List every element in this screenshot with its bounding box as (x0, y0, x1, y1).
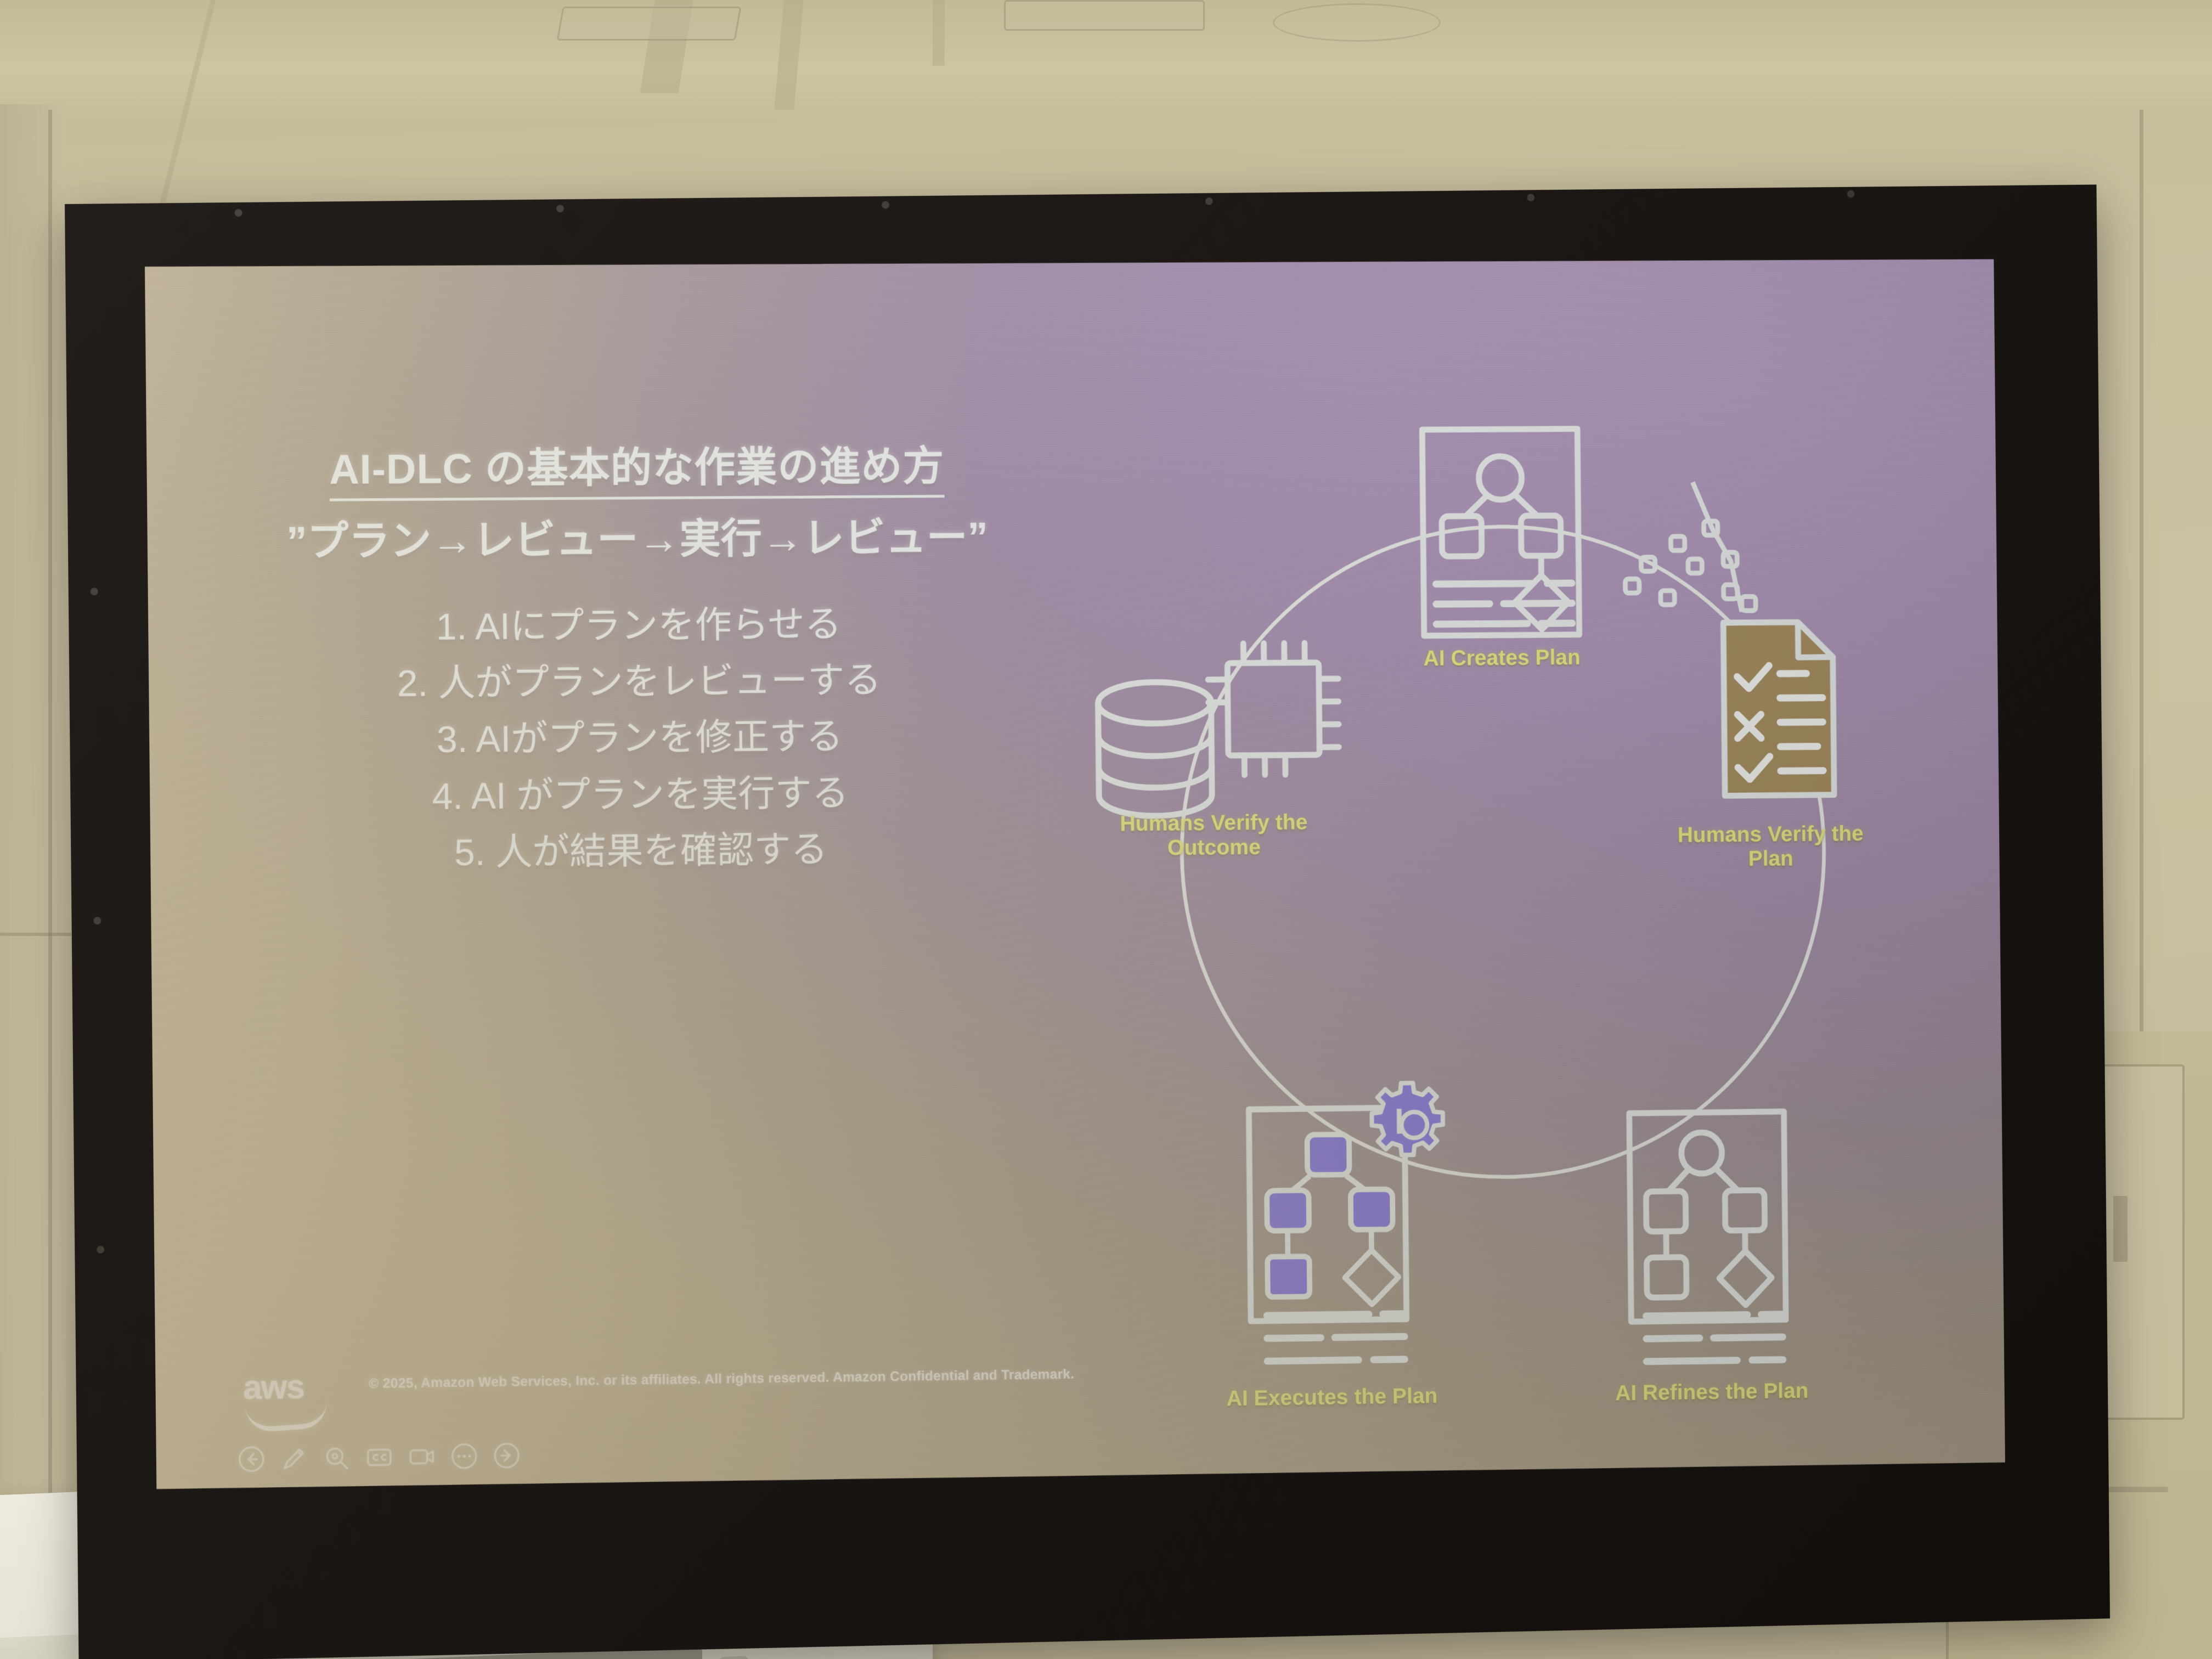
pen-icon[interactable] (280, 1444, 308, 1473)
slide-footer: aws © 2025, Amazon Web Services, Inc. or… (155, 1322, 2005, 1489)
list-item: 5. 人が結果を確認する (205, 819, 1075, 883)
video-camera-icon[interactable] (408, 1442, 436, 1471)
ceiling-beam (933, 0, 945, 66)
left-wall (0, 104, 66, 1531)
aws-logo: aws (243, 1370, 336, 1429)
projector-screen-frame: AI-DLC の基本的な作業の進め方 ”プラン→レビュー→実行→レビュー” 1.… (65, 184, 2110, 1659)
aws-smile-icon (245, 1401, 328, 1433)
arrow-left-circle-icon[interactable] (237, 1444, 266, 1474)
ai-dlc-cycle-diagram: AI Creates Plan Humans Verify the Plan A… (1069, 319, 1989, 1410)
database-chip-icon (1097, 643, 1339, 816)
flowchart-document-icon (1629, 1111, 1786, 1322)
cycle-node-label-creates: AI Creates Plan (1341, 645, 1663, 672)
page-title: AI-DLC の基本的な作業の進め方 (329, 443, 945, 501)
gear-flowchart-icon (1249, 1083, 1445, 1362)
list-item: 3. AIがプランを修正する (204, 707, 1074, 770)
data-pixels-icon (1624, 521, 1756, 611)
ellipsis-circle-icon[interactable] (450, 1442, 478, 1471)
ceiling-vent (557, 7, 742, 41)
checklist-document-icon (1723, 622, 1834, 796)
ceiling-light-dome (1273, 3, 1441, 42)
slide-subtitle: ”プラン→レビュー→実行→レビュー” (202, 513, 1071, 566)
cycle-node-label-verify-outcome: Humans Verify the Outcome (1068, 810, 1359, 861)
pixel-trail-line (1692, 482, 1742, 612)
magnifier-icon[interactable] (323, 1443, 351, 1472)
wall-panel-slot (2113, 1196, 2128, 1262)
list-item: 4. AI がプランを実行する (205, 763, 1074, 827)
list-item: 2. 人がプランをレビューする (204, 651, 1073, 714)
projector-knob-right (719, 1656, 748, 1659)
ceiling-vent (1004, 0, 1205, 31)
arrow-right-circle-icon[interactable] (493, 1441, 521, 1470)
aws-wordmark: aws (243, 1370, 336, 1405)
slide-text-column: AI-DLC の基本的な作業の進め方 ”プラン→レビュー→実行→レビュー” 1.… (201, 442, 1074, 883)
wall-seam (48, 110, 52, 1657)
closed-captions-icon[interactable] (365, 1443, 393, 1472)
photo-scene: Panasonic PROJECTOR AI-DLC の基本的な作業の進め方 ”… (0, 0, 2212, 1659)
presentation-slide: AI-DLC の基本的な作業の進め方 ”プラン→レビュー→実行→レビュー” 1.… (145, 259, 2005, 1489)
presenter-toolbar[interactable] (237, 1441, 521, 1474)
steps-list: 1. AIにプランを作らせる 2. 人がプランをレビューする 3. AIがプラン… (203, 595, 1075, 884)
copyright-notice: © 2025, Amazon Web Services, Inc. or its… (369, 1367, 1074, 1392)
list-item: 1. AIにプランを作らせる (203, 595, 1073, 657)
wall-seam (0, 933, 71, 936)
cycle-node-label-verify-plan: Humans Verify the Plan (1627, 821, 1915, 872)
